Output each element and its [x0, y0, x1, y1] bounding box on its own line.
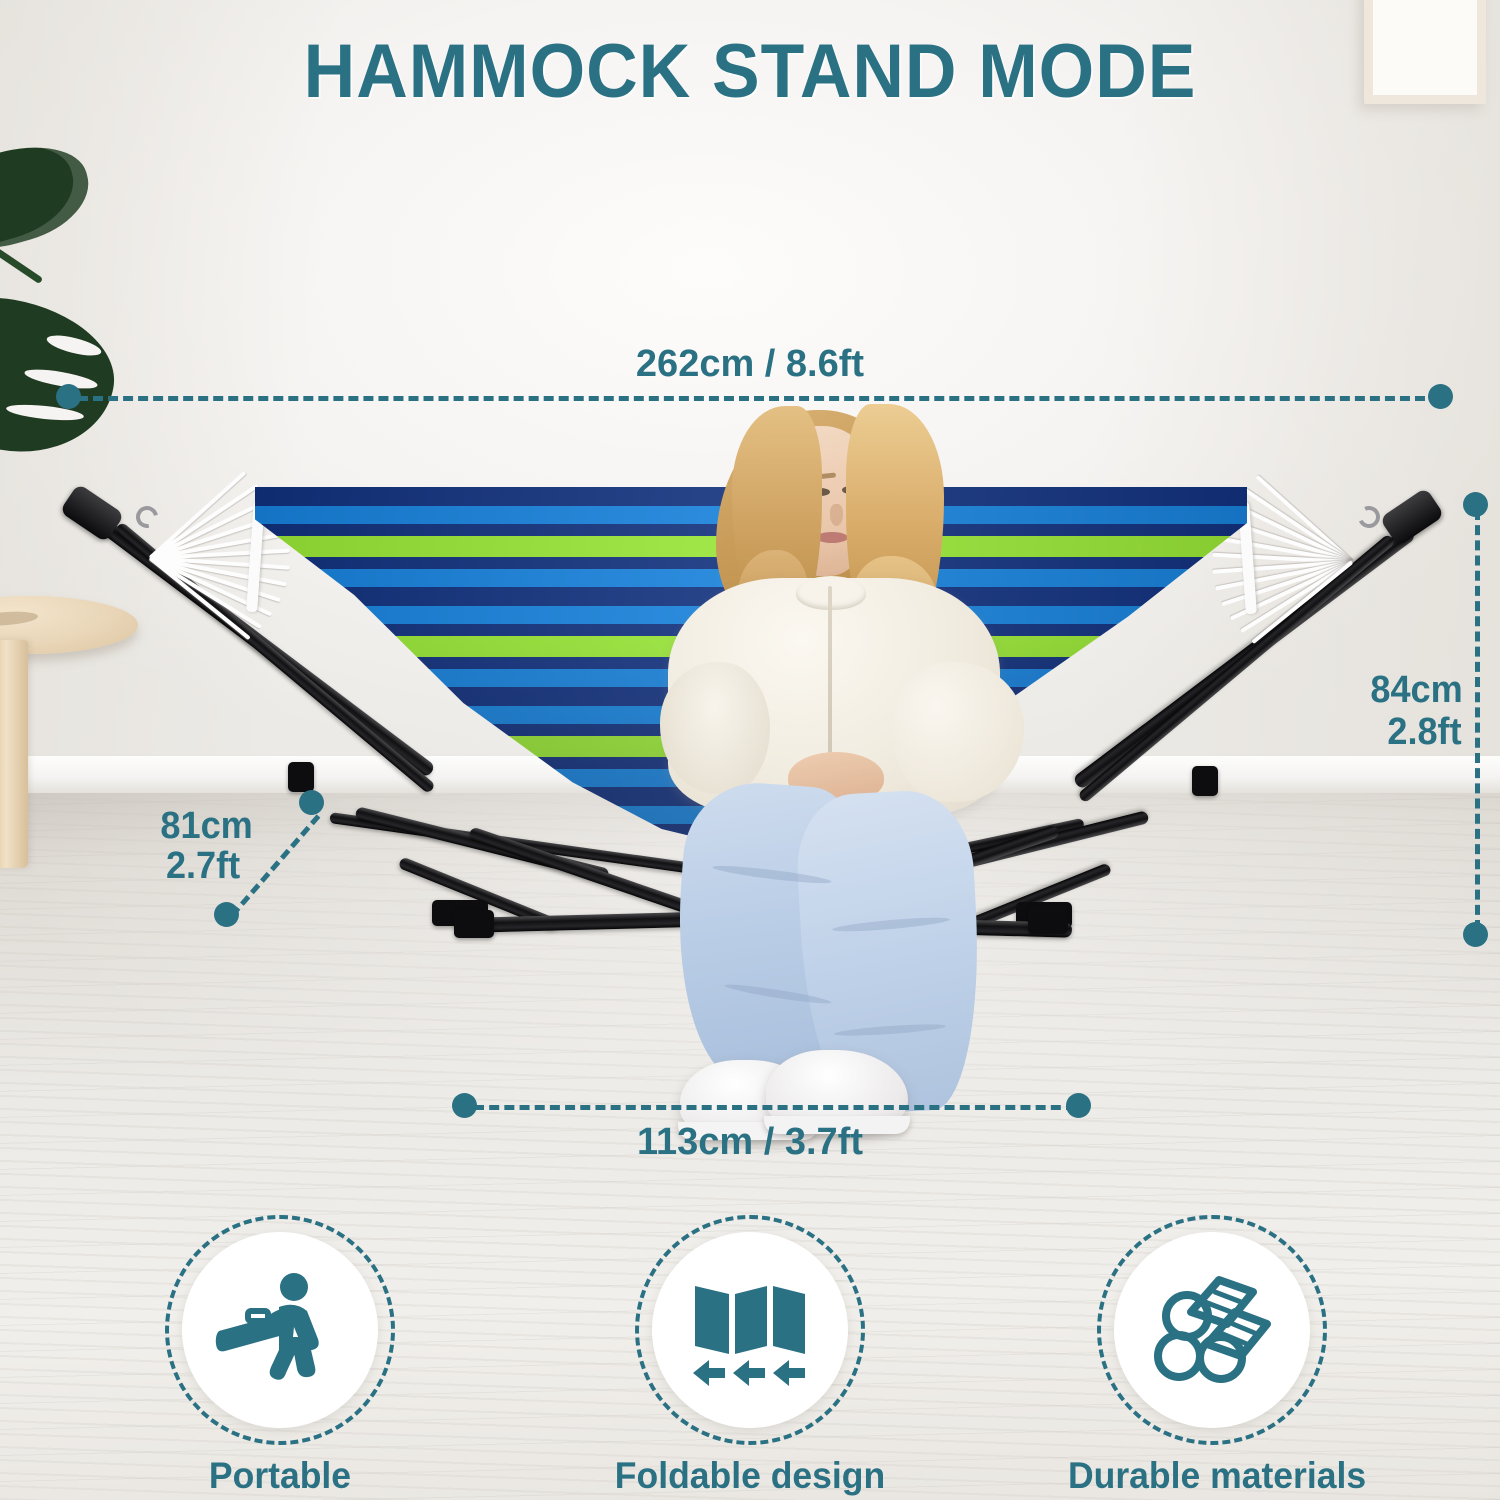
feature-portable[interactable]: Portable — [130, 1215, 430, 1497]
person-seated-in-hammock — [620, 400, 1040, 1100]
feature-foldable-design[interactable]: Foldable design — [600, 1215, 900, 1497]
dimension-label-overall-length: 262cm / 8.6ft — [0, 344, 1500, 384]
feature-label: Foldable design — [606, 1455, 894, 1497]
dimension-label-overall-height-cm: 84cm — [1370, 670, 1461, 710]
person-carrying-case-icon — [215, 1271, 345, 1389]
dimension-endpoint-dot — [452, 1093, 477, 1118]
dimension-line-base-width — [474, 1105, 1076, 1110]
hoodie-sleeve-right — [892, 662, 1024, 802]
right-bracket-joint — [1192, 766, 1218, 796]
dimension-endpoint-dot — [56, 384, 81, 409]
stacked-steel-tubes-icon — [1149, 1270, 1275, 1390]
front-left-foot — [454, 910, 494, 938]
feature-ring — [635, 1215, 865, 1445]
dimension-endpoint-dot — [1463, 922, 1488, 947]
dimension-line-overall-length — [78, 396, 1440, 401]
page-title: HAMMOCK STAND MODE — [45, 28, 1455, 115]
dimension-endpoint-dot — [299, 790, 324, 815]
feature-durable-materials[interactable]: Durable materials — [1062, 1215, 1362, 1497]
dimension-label-overall-height-ft: 2.8ft — [1370, 712, 1461, 752]
left-bracket-joint — [288, 762, 314, 792]
right-carabiner-icon — [1355, 503, 1383, 531]
left-carabiner-icon — [132, 502, 163, 533]
dimension-endpoint-dot — [1066, 1093, 1091, 1118]
dimension-label-base-depth-cm: 81cm — [160, 806, 252, 846]
dimension-line-overall-height — [1475, 510, 1480, 930]
feature-label: Durable materials — [1068, 1455, 1356, 1497]
dimension-endpoint-dot — [1463, 492, 1488, 517]
folding-panels-arrows-icon — [685, 1270, 815, 1390]
dimension-label-base-depth-ft: 2.7ft — [166, 846, 240, 886]
dimension-label-base-width: 113cm / 3.7ft — [0, 1122, 1500, 1162]
feature-label: Portable — [136, 1455, 424, 1497]
feature-disc — [1114, 1232, 1310, 1428]
feature-badges: Portable Foldable design — [0, 1215, 1500, 1500]
feature-disc — [652, 1232, 848, 1428]
nose — [830, 504, 843, 526]
feature-ring — [165, 1215, 395, 1445]
hoodie-sleeve-left — [660, 662, 770, 794]
feature-disc — [182, 1232, 378, 1428]
dimension-endpoint-dot — [214, 902, 239, 927]
dimension-endpoint-dot — [1428, 384, 1453, 409]
feature-ring — [1097, 1215, 1327, 1445]
